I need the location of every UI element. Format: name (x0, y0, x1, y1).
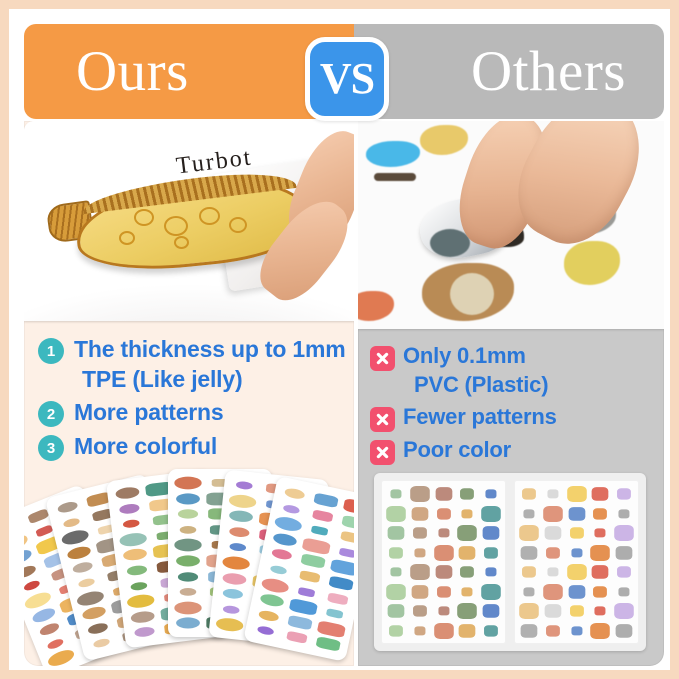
sticker-item (483, 604, 500, 617)
sticker-item (435, 487, 452, 500)
feature-text: Only 0.1mm (403, 343, 526, 370)
sticker-item (46, 647, 76, 666)
comparison-infographic: Ours Others VS Turbot (0, 0, 679, 679)
fish-spot (174, 236, 189, 249)
sticker-item (544, 526, 561, 539)
sticker-item (284, 487, 306, 500)
sticker-item (283, 503, 301, 514)
feature-row: Poor color (370, 437, 654, 465)
sticker-item (257, 625, 275, 636)
sticker-item (340, 531, 354, 544)
sticker-item (286, 631, 308, 644)
sticker-item (174, 601, 201, 613)
sticker-item (593, 508, 607, 519)
panel-others: Only 0.1mm PVC (Plastic) Fewer patterns (358, 121, 664, 666)
sticker-item (300, 553, 325, 568)
sticker-item (258, 609, 280, 622)
feature-row: PVC (Plastic) (370, 372, 654, 399)
sticker-item (481, 505, 500, 521)
feature-row: 1 The thickness up to 1mm (38, 335, 344, 364)
sticker-item (386, 505, 405, 521)
cross-mark-icon (370, 407, 395, 432)
sticker-item (437, 586, 451, 597)
hand (436, 121, 664, 287)
sticker-item (270, 564, 288, 575)
sticker-item (522, 488, 536, 499)
sticker-item (571, 548, 582, 557)
sticker-item (87, 621, 109, 635)
sticker-item (274, 515, 303, 533)
sticker-item (327, 592, 349, 605)
sticker-item (543, 583, 562, 599)
sticker-item (567, 564, 586, 580)
sticker-item (174, 539, 201, 551)
sticker-item (435, 565, 452, 578)
sticker-item (546, 625, 560, 636)
sticker-item (126, 565, 147, 576)
sticker-item (388, 604, 405, 617)
sticker-item (72, 561, 94, 575)
sticker-sheet (514, 480, 639, 644)
sticker-item (617, 566, 631, 577)
sticker-item (228, 493, 256, 508)
vs-badge-label: VS (320, 57, 374, 101)
feature-text: Poor color (403, 437, 511, 464)
fish-spot (119, 231, 135, 245)
sticker-item (411, 507, 428, 520)
sticker-item (130, 610, 155, 624)
sticker-item (460, 566, 474, 577)
header-others-label: Others (471, 43, 626, 100)
sticker-item (414, 626, 425, 635)
sticker-item (410, 564, 429, 580)
turbot-sticker-scene: Turbot (24, 121, 354, 321)
comparison-panels: Turbot 1 The thickness up (24, 121, 664, 666)
sticker-blob (358, 291, 394, 321)
sticker-sheet (381, 480, 506, 644)
sticker-item (438, 606, 449, 615)
sticker-item (93, 638, 111, 649)
sticker-item (343, 498, 354, 516)
sticker-item (176, 618, 200, 629)
sticker-item (259, 593, 284, 608)
others-product-photo (358, 121, 664, 329)
sticker-item (616, 546, 633, 559)
sticker-item (302, 537, 331, 555)
sticker-item (413, 605, 427, 616)
sticker-item (567, 486, 586, 502)
sticker-item (462, 587, 473, 596)
sticker-item (289, 598, 318, 616)
sticker-item (591, 622, 610, 638)
sticker-item (410, 486, 429, 502)
sticker-item (614, 603, 633, 619)
sticker-item (38, 621, 60, 637)
sticker-item (57, 500, 79, 514)
sticker-item (24, 579, 41, 592)
list-number-icon: 2 (38, 401, 64, 427)
sticker-item (434, 622, 453, 638)
sticker-item (222, 572, 247, 585)
sticker-item (521, 546, 538, 559)
sticker-item (229, 510, 254, 523)
sticker-item (119, 531, 148, 547)
sticker-item (519, 603, 538, 619)
sticker-item (481, 583, 500, 599)
sticker-item (81, 605, 107, 621)
sticker-item (46, 637, 64, 650)
sticker-item (115, 486, 140, 500)
sticker-blob (366, 141, 420, 167)
sticker-item (547, 489, 558, 498)
sticker-item (339, 547, 354, 558)
feature-text: PVC (Plastic) (414, 372, 548, 399)
sticker-item (298, 586, 316, 597)
sticker-item (519, 525, 538, 541)
sticker-item (78, 577, 96, 588)
sticker-item (180, 588, 197, 595)
sticker-item (413, 527, 427, 538)
sticker-item (315, 636, 340, 651)
sticker-item (595, 528, 606, 537)
sticker-item (459, 546, 476, 559)
sticker-item (522, 566, 536, 577)
sticker-item (236, 481, 253, 490)
sticker-item (460, 488, 474, 499)
sticker-item (546, 547, 560, 558)
sticker-item (389, 547, 403, 558)
others-feature-list: Only 0.1mm PVC (Plastic) Fewer patterns (358, 331, 664, 470)
sticker-item (390, 567, 401, 576)
sticker-item (616, 624, 633, 637)
ours-product-photo: Turbot (24, 121, 354, 321)
sticker-item (484, 547, 498, 558)
sticker-item (312, 509, 334, 522)
sticker-item (595, 606, 606, 615)
sticker-item (568, 507, 585, 520)
list-number-icon: 3 (38, 435, 64, 461)
sticker-item (592, 565, 609, 578)
sticker-item (119, 503, 140, 514)
sticker-item (178, 572, 198, 581)
sticker-item (35, 524, 53, 537)
feature-row: 3 More colorful (38, 432, 344, 461)
sticker-item (458, 603, 477, 619)
sticker-item (570, 605, 584, 616)
sticker-item (317, 620, 346, 638)
sticker-item (521, 624, 538, 637)
sticker-item (229, 543, 246, 552)
sticker-item (229, 526, 250, 537)
thin-sticker-scene (358, 121, 664, 329)
sticker-item (126, 593, 155, 609)
sticker-item (130, 581, 147, 590)
sticker-item (411, 585, 428, 598)
sticker-item (60, 528, 89, 547)
sticker-item (24, 548, 33, 567)
feature-row: TPE (Like jelly) (38, 365, 344, 393)
ours-sticker-sheets (36, 469, 342, 659)
sticker-item (24, 563, 37, 579)
sticker-item (76, 589, 105, 608)
sticker-item (591, 544, 610, 560)
sticker-item (592, 487, 609, 500)
sticker-item (619, 587, 630, 596)
sticker-item (544, 604, 561, 617)
sticker-item (330, 559, 354, 577)
feature-row: Fewer patterns (370, 404, 654, 432)
sticker-item (390, 489, 401, 498)
sticker-item (63, 517, 81, 528)
sticker-item (215, 617, 243, 632)
sticker-item (523, 509, 534, 518)
fish-spot (229, 217, 247, 233)
sticker-item (570, 527, 584, 538)
sticker-item (617, 488, 631, 499)
feature-row: Only 0.1mm (370, 343, 654, 371)
feature-text: Fewer patterns (403, 404, 557, 431)
fish-spot (164, 216, 188, 236)
feature-text: More patterns (74, 398, 223, 426)
sticker-item (178, 509, 198, 518)
sticker-item (313, 492, 338, 507)
sticker-item (593, 586, 607, 597)
sticker-item (261, 576, 290, 594)
sticker-item (462, 509, 473, 518)
sticker-item (571, 626, 582, 635)
sticker-item (176, 555, 200, 566)
feature-text: The thickness up to 1mm (74, 335, 345, 363)
sticker-item (389, 625, 403, 636)
sticker-item (484, 625, 498, 636)
sticker-item (414, 548, 425, 557)
sticker-item (311, 525, 329, 536)
sticker-item (223, 605, 240, 614)
sticker-item (222, 588, 243, 599)
ours-feature-list: 1 The thickness up to 1mm TPE (Like jell… (24, 323, 354, 466)
panel-ours: Turbot 1 The thickness up (24, 121, 354, 666)
sticker-item (388, 526, 405, 539)
list-number-icon: 1 (38, 338, 64, 364)
sticker-item (386, 583, 405, 599)
sticker-item (341, 514, 354, 529)
sticker-item (434, 544, 453, 560)
fish-spot (134, 209, 154, 226)
others-sticker-sheets (374, 473, 646, 651)
sticker-item (222, 555, 250, 570)
sticker-item (272, 532, 297, 547)
sticker-item (568, 585, 585, 598)
feature-text: TPE (Like jelly) (82, 365, 242, 393)
sticker-item (523, 587, 534, 596)
header-ours-label: Ours (76, 43, 189, 100)
sticker-item (328, 575, 353, 590)
cross-mark-icon (370, 346, 395, 371)
sticker-item (486, 489, 497, 498)
sticker-item (326, 608, 344, 619)
sticker-item (134, 626, 155, 637)
vs-badge: VS (305, 37, 389, 121)
sticker-item (458, 525, 477, 541)
sticker-item (271, 548, 293, 561)
sticker-item (123, 548, 148, 562)
sticker-item (27, 508, 49, 524)
sticker-item (486, 567, 497, 576)
fish-spot (199, 207, 220, 225)
sticker-item (547, 567, 558, 576)
sticker-item (437, 508, 451, 519)
sticker-item (483, 526, 500, 539)
sticker-item (543, 505, 562, 521)
sticker-item (180, 526, 197, 533)
header-others-half: Others (354, 24, 664, 119)
cross-mark-icon (370, 440, 395, 465)
feature-row: 2 More patterns (38, 398, 344, 427)
sticker-item (459, 624, 476, 637)
sticker-item (287, 615, 312, 630)
sticker-item (176, 493, 200, 504)
sticker-item (66, 544, 92, 560)
sticker-item (123, 519, 140, 528)
sticker-blob (374, 173, 416, 181)
sticker-item (619, 509, 630, 518)
sticker-item (174, 477, 201, 489)
feature-text: More colorful (74, 432, 217, 460)
sticker-item (614, 525, 633, 541)
sticker-item (438, 528, 449, 537)
sticker-item (299, 570, 321, 583)
